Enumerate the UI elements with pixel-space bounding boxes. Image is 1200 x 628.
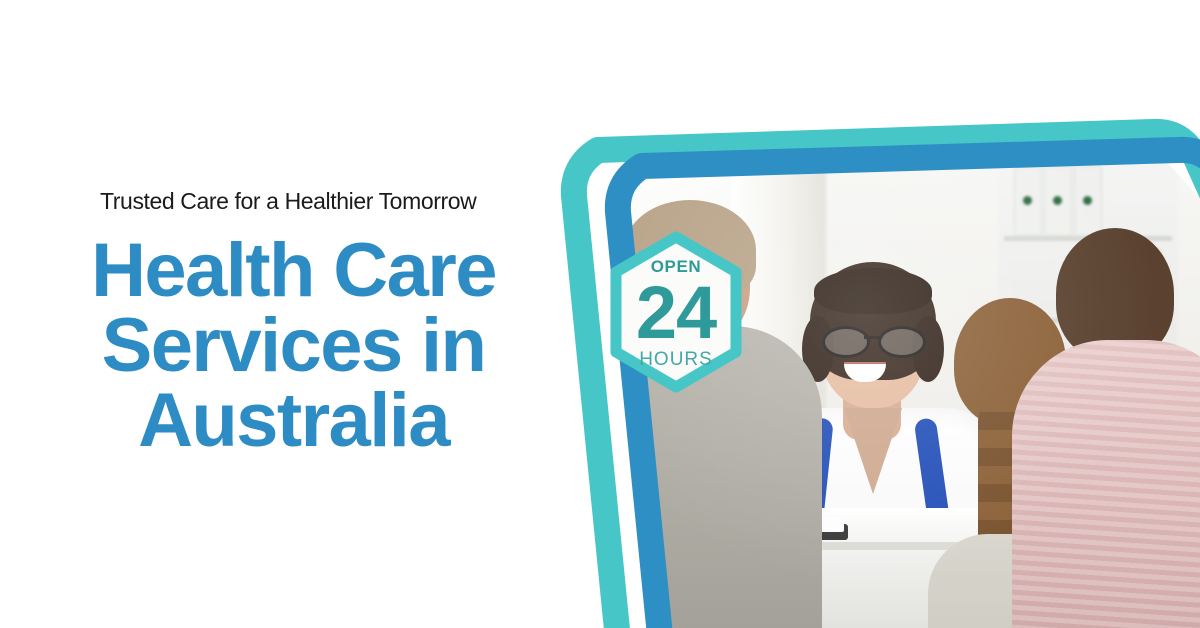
tagline: Trusted Care for a Healthier Tomorrow <box>100 188 576 215</box>
open-24-hours-badge: OPEN 24 HOURS <box>596 228 756 396</box>
page-title: Health Care Services in Australia <box>56 233 531 459</box>
photo-frame-area: OPEN 24 HOURS <box>560 0 1200 628</box>
headline-text-block: Trusted Care for a Healthier Tomorrow He… <box>56 188 576 459</box>
headline-line-2: Services in <box>56 308 531 383</box>
headline-line-1: Health Care <box>56 233 531 308</box>
badge-hexagon-shape <box>616 237 736 387</box>
badge-hexagon-icon <box>596 228 756 396</box>
headline-line-3: Australia <box>56 383 531 458</box>
health-care-banner: Trusted Care for a Healthier Tomorrow He… <box>0 0 1200 628</box>
